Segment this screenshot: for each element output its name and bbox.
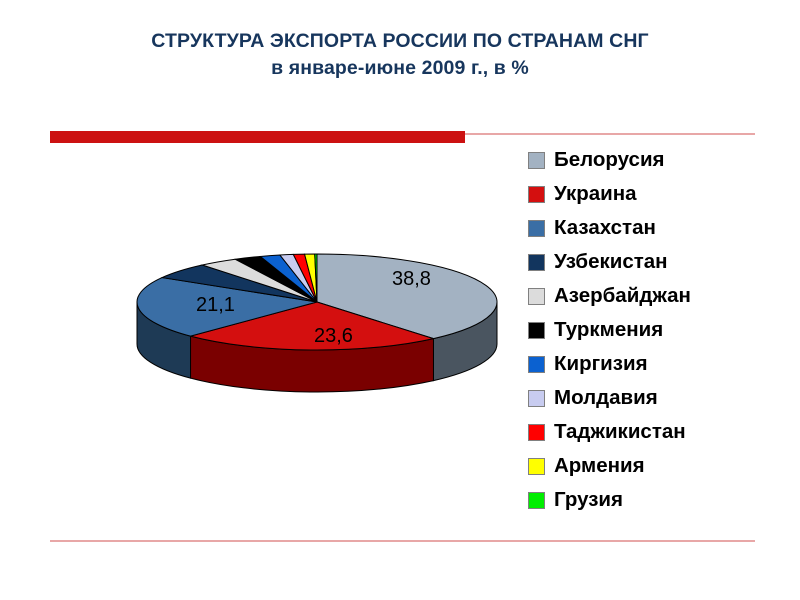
legend-color-swatch-icon <box>528 254 545 271</box>
legend-item[interactable]: Киргизия <box>528 347 790 381</box>
legend-item-label: Армения <box>554 456 645 476</box>
legend-color-swatch-icon <box>528 356 545 373</box>
legend-color-swatch-icon <box>528 152 545 169</box>
legend-item[interactable]: Молдавия <box>528 381 790 415</box>
pie-slice-label-belorusia: 38,8 <box>392 268 431 291</box>
legend-item[interactable]: Казахстан <box>528 211 790 245</box>
legend-item-label: Украина <box>554 184 637 204</box>
legend-color-swatch-icon <box>528 186 545 203</box>
chart-legend: БелорусияУкраинаКазахстанУзбекистанАзерб… <box>528 143 790 517</box>
legend-color-swatch-icon <box>528 288 545 305</box>
legend-item[interactable]: Узбекистан <box>528 245 790 279</box>
page-title: СТРУКТУРА ЭКСПОРТА РОССИИ ПО СТРАНАМ СНГ… <box>0 28 800 82</box>
legend-item-label: Узбекистан <box>554 252 668 272</box>
top-divider-red-bar <box>50 131 465 143</box>
legend-item[interactable]: Армения <box>528 449 790 483</box>
legend-color-swatch-icon <box>528 424 545 441</box>
legend-item-label: Молдавия <box>554 388 658 408</box>
legend-color-swatch-icon <box>528 492 545 509</box>
legend-item[interactable]: Туркмения <box>528 313 790 347</box>
legend-color-swatch-icon <box>528 322 545 339</box>
pie-slice-label-kazahstan: 21,1 <box>196 294 235 317</box>
legend-item-label: Киргизия <box>554 354 648 374</box>
legend-color-swatch-icon <box>528 220 545 237</box>
title-line-2: в январе-июне 2009 г., в % <box>0 55 800 82</box>
legend-item-label: Грузия <box>554 490 623 510</box>
legend-item[interactable]: Украина <box>528 177 790 211</box>
legend-item-label: Белорусия <box>554 150 665 170</box>
title-line-1: СТРУКТУРА ЭКСПОРТА РОССИИ ПО СТРАНАМ СНГ <box>0 28 800 55</box>
legend-item-label: Таджикистан <box>554 422 686 442</box>
slide-canvas: СТРУКТУРА ЭКСПОРТА РОССИИ ПО СТРАНАМ СНГ… <box>0 0 800 600</box>
legend-item[interactable]: Азербайджан <box>528 279 790 313</box>
legend-item-label: Азербайджан <box>554 286 691 306</box>
legend-item[interactable]: Белорусия <box>528 143 790 177</box>
legend-color-swatch-icon <box>528 390 545 407</box>
legend-item-label: Казахстан <box>554 218 656 238</box>
legend-item-label: Туркмения <box>554 320 663 340</box>
bottom-divider <box>50 540 755 542</box>
legend-item[interactable]: Таджикистан <box>528 415 790 449</box>
legend-item[interactable]: Грузия <box>528 483 790 517</box>
legend-color-swatch-icon <box>528 458 545 475</box>
pie-slice-label-ukraina: 23,6 <box>314 325 353 348</box>
